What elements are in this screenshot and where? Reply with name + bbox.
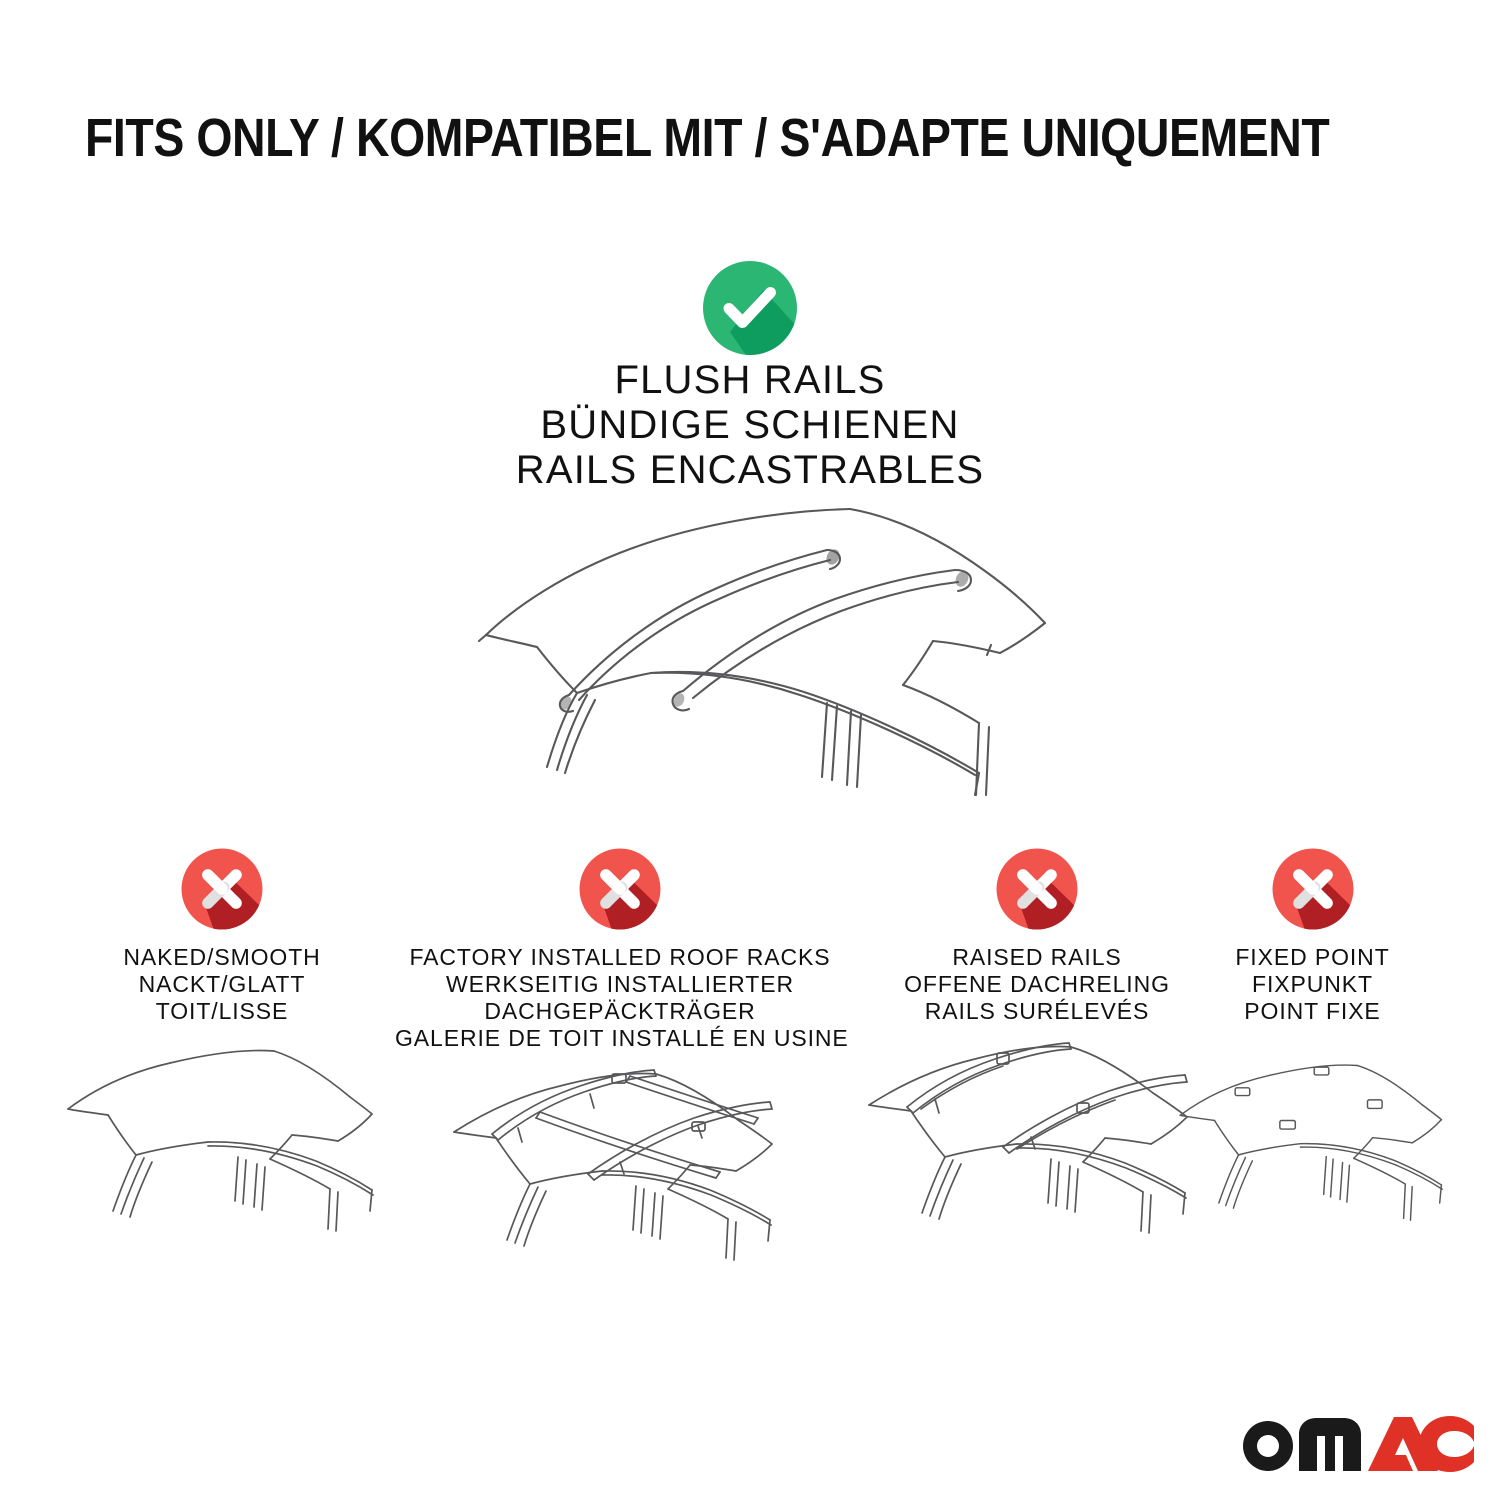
option-label-line-en: RAISED RAILS: [855, 944, 1219, 971]
option-label-line-de-1: WERKSEITIG INSTALLIERTER: [395, 971, 845, 998]
option-label: NAKED/SMOOTH NACKT/GLATT TOIT/LISSE: [62, 944, 382, 1025]
page-title: FITS ONLY / KOMPATIBEL MIT / S'ADAPTE UN…: [85, 106, 1237, 170]
x-circle-icon: [576, 845, 664, 933]
option-label-line-fr: POINT FIXE: [1175, 998, 1450, 1025]
option-label-line-de: OFFENE DACHRELING: [855, 971, 1219, 998]
option-label: FIXED POINT FIXPUNKT POINT FIXE: [1175, 944, 1450, 1025]
car-roof-naked-smooth-figure: [62, 1039, 382, 1269]
x-circle-icon: [993, 845, 1081, 933]
fits-badge-container: [0, 258, 1500, 363]
option-label-line-fr: GALERIE DE TOIT INSTALLÉ EN USINE: [395, 1025, 845, 1052]
option-label-line-de-2: DACHGEPÄCKTRÄGER: [395, 998, 845, 1025]
option-label-line-en: FACTORY INSTALLED ROOF RACKS: [395, 944, 845, 971]
omac-logo: [1238, 1412, 1474, 1474]
incompatible-options-row: NAKED/SMOOTH NACKT/GLATT TOIT/LISSE: [0, 845, 1500, 1315]
option-raised-rails: RAISED RAILS OFFENE DACHRELING RAILS SUR…: [855, 845, 1219, 1269]
fits-label: FLUSH RAILS BÜNDIGE SCHIENEN RAILS ENCAS…: [0, 360, 1500, 495]
car-roof-fixed-point-figure: [1175, 1039, 1450, 1269]
fits-label-line-en: FLUSH RAILS: [0, 360, 1500, 400]
car-roof-raised-rails-figure: [855, 1039, 1219, 1269]
fits-label-line-fr: RAILS ENCASTRABLES: [0, 450, 1500, 490]
option-label-line-fr: RAILS SURÉLEVÉS: [855, 998, 1219, 1025]
option-factory-roof-racks: FACTORY INSTALLED ROOF RACKS WERKSEITIG …: [395, 845, 845, 1296]
fits-label-line-de: BÜNDIGE SCHIENEN: [0, 405, 1500, 445]
option-label-line-de: NACKT/GLATT: [62, 971, 382, 998]
option-label: RAISED RAILS OFFENE DACHRELING RAILS SUR…: [855, 944, 1219, 1025]
option-label-line-fr: TOIT/LISSE: [62, 998, 382, 1025]
car-roof-factory-roof-racks-figure: [395, 1066, 845, 1296]
option-naked-smooth: NAKED/SMOOTH NACKT/GLATT TOIT/LISSE: [62, 845, 382, 1269]
x-circle-icon: [178, 845, 266, 933]
compatibility-infographic: FITS ONLY / KOMPATIBEL MIT / S'ADAPTE UN…: [0, 0, 1500, 1500]
car-roof-with-flush-rails-figure: [455, 495, 1055, 805]
option-label: FACTORY INSTALLED ROOF RACKS WERKSEITIG …: [395, 944, 845, 1052]
option-label-line-en: NAKED/SMOOTH: [62, 944, 382, 971]
x-circle-icon: [1269, 845, 1357, 933]
option-label-line-de: FIXPUNKT: [1175, 971, 1450, 998]
option-fixed-point: FIXED POINT FIXPUNKT POINT FIXE: [1175, 845, 1450, 1269]
option-label-line-en: FIXED POINT: [1175, 944, 1450, 971]
check-circle-icon: [700, 258, 800, 358]
